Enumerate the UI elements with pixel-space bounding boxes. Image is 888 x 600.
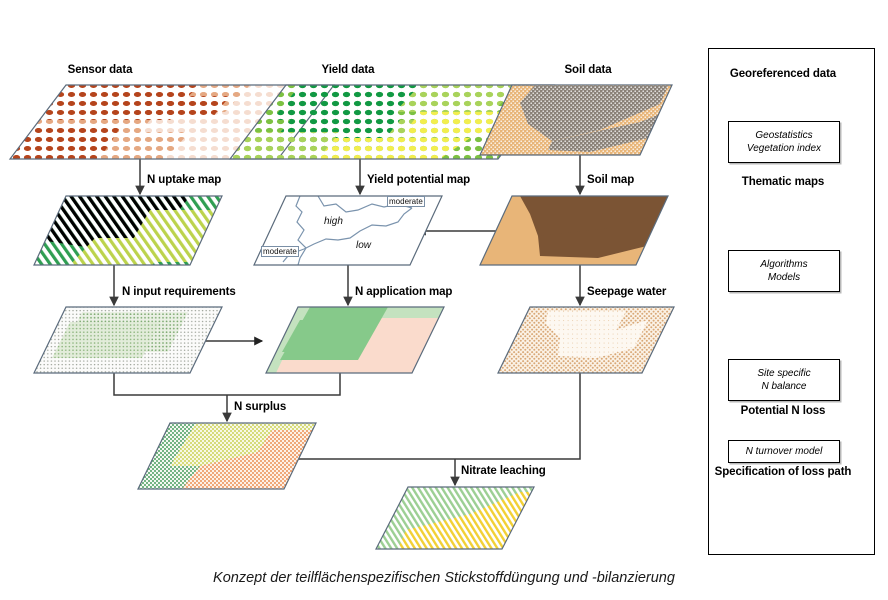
algorithms-line2: Models [760,271,807,284]
label-seepage-water: Seepage water [587,286,666,299]
label-n-surplus: N surplus [234,401,286,414]
map-seepage-water [490,302,690,382]
figure-caption: Konzept der teilflächenspezifischen Stic… [0,570,888,586]
label-region-high: high [324,216,343,227]
label-n-application-map: N application map [355,286,452,299]
sidepanel-box-site-specific[interactable]: Site specific N balance [728,359,840,401]
label-yield-data: Yield data [322,64,375,77]
map-soil-map [470,190,680,275]
map-n-uptake [25,190,235,275]
label-nitrate-leaching: Nitrate leaching [461,465,546,478]
sidepanel-heading-thematic: Thematic maps [742,176,824,189]
merge-line-nitrate [284,373,580,459]
site-specific-line1: Site specific [757,367,810,380]
n-turnover-line1: N turnover model [746,446,823,457]
site-specific-line2: N balance [757,380,810,393]
map-nitrate-leaching [370,482,550,557]
merge-line-nsurplus [114,373,340,395]
sidepanel-heading-potential-n-loss: Potential N loss [741,405,826,418]
sidepanel-box-algorithms[interactable]: Algorithms Models [728,250,840,292]
label-n-input-requirements: N input requirements [122,286,236,299]
sidepanel-box-geostatistics[interactable]: Geostatistics Vegetation index [728,121,840,163]
diagram-root: Sensor data Yield data Soil data N uptak… [0,0,888,600]
map-n-application [258,302,458,382]
sidepanel-heading-specification: Specification of loss path [715,466,852,479]
sidepanel-box-n-turnover[interactable]: N turnover model [728,440,840,463]
sidepanel-heading-georeferenced: Georeferenced data [730,68,836,81]
map-n-input-requirements [25,302,235,382]
label-region-moderate-bottom: moderate [261,246,299,257]
map-n-surplus [130,418,330,498]
label-region-moderate-top: moderate [387,196,425,207]
label-yield-potential-map: Yield potential map [367,174,470,187]
label-n-uptake-map: N uptake map [147,174,221,187]
algorithms-line1: Algorithms [760,258,807,271]
label-soil-map: Soil map [587,174,634,187]
geostatistics-line1: Geostatistics [747,129,821,142]
label-soil-data: Soil data [564,64,611,77]
label-region-low: low [356,240,371,251]
label-sensor-data: Sensor data [68,64,133,77]
geostatistics-line2: Vegetation index [747,142,821,155]
